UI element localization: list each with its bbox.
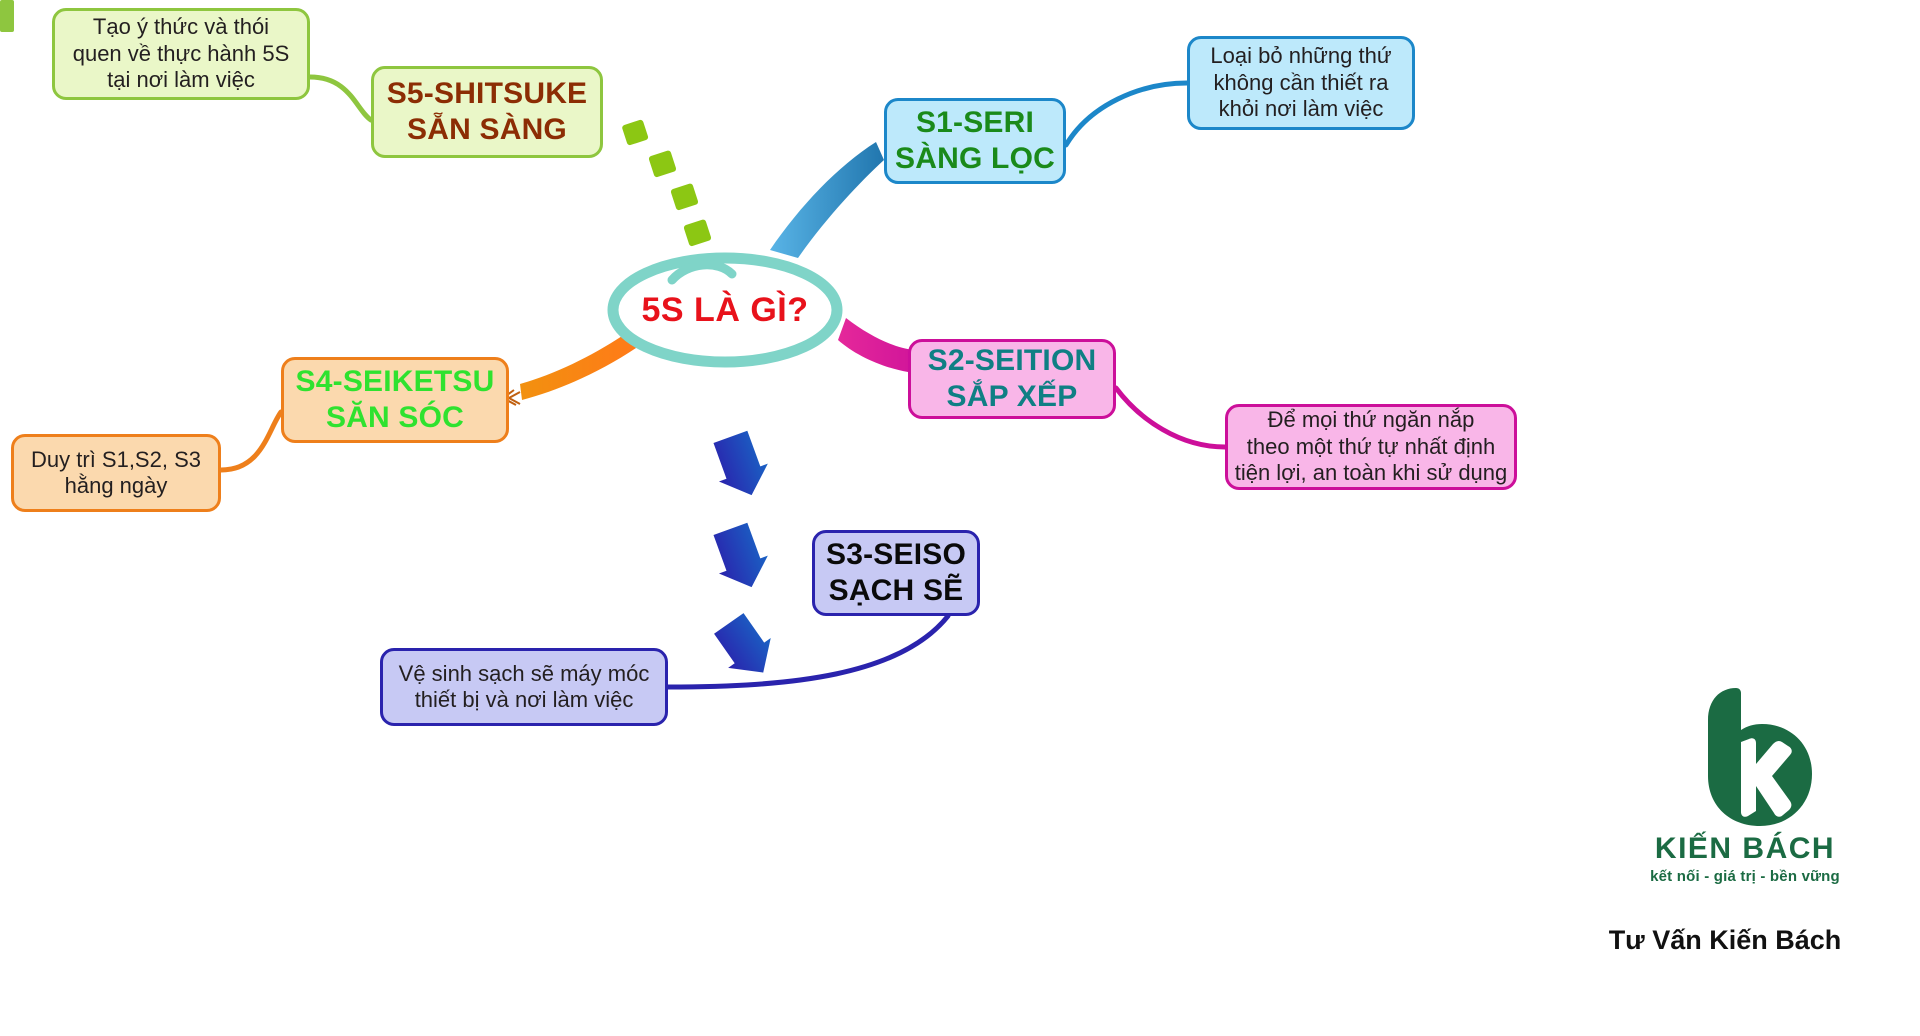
node-s2-seition[interactable]: S2-SEITION SẮP XẾP <box>908 339 1116 419</box>
node-s3-seiso[interactable]: S3-SEISO SẠCH SẼ <box>812 530 980 616</box>
node-s4-line-2: SĂN SÓC <box>290 400 500 436</box>
node-s2-line-1: S2-SEITION <box>917 343 1107 379</box>
connector-s2-leaf <box>1116 388 1225 447</box>
leaf-s2-line-2: theo một thứ tự nhất định <box>1234 434 1508 460</box>
node-s4-line-1: S4-SEIKETSU <box>290 364 500 400</box>
logo-tagline: kết nối - giá trị - bền vững <box>1585 868 1905 885</box>
leaf-s3-description[interactable]: Vệ sinh sạch sẽ máy móc thiết bị và nơi … <box>380 648 668 726</box>
connector-s3-center <box>706 428 785 688</box>
leaf-s2-line-1: Để mọi thứ ngăn nắp <box>1234 407 1508 433</box>
connector-s3-leaf <box>668 616 948 687</box>
node-s1-line-2: SÀNG LỌC <box>893 141 1057 177</box>
leaf-s2-description[interactable]: Để mọi thứ ngăn nắp theo một thứ tự nhất… <box>1225 404 1517 490</box>
footer-caption: Tư Vấn Kiến Bách <box>1545 925 1905 956</box>
connector-s4-arrowhead <box>509 392 520 404</box>
leaf-s5-line-3: tại nơi làm việc <box>61 67 301 93</box>
mindmap-canvas: 5S LÀ GÌ? Tạo ý thức và thói quen về thự… <box>0 0 1920 1036</box>
leaf-s3-line-1: Vệ sinh sạch sẽ máy móc <box>389 661 659 687</box>
connector-s1-center <box>770 142 884 258</box>
kb-monogram-icon <box>1670 680 1820 830</box>
node-s4-seiketsu[interactable]: S4-SEIKETSU SĂN SÓC <box>281 357 509 443</box>
brand-logo: KIẾN BÁCH kết nối - giá trị - bền vững <box>1585 680 1905 880</box>
leaf-s4-line-1: Duy trì S1,S2, S3 <box>20 447 212 473</box>
node-s3-line-2: SẠCH SẼ <box>821 573 971 609</box>
node-s5-connector-stub <box>0 0 14 32</box>
leaf-s3-line-2: thiết bị và nơi làm việc <box>389 687 659 713</box>
leaf-s1-line-3: khỏi nơi làm việc <box>1196 96 1406 122</box>
leaf-s5-line-1: Tạo ý thức và thói <box>61 14 301 40</box>
node-s2-line-2: SẮP XẾP <box>917 379 1107 415</box>
connector-s1-leaf <box>1066 83 1187 145</box>
node-s5-line-2: SẴN SÀNG <box>380 112 594 148</box>
leaf-s1-line-2: không cần thiết ra <box>1196 70 1406 96</box>
leaf-s4-line-2: hằng ngày <box>20 473 212 499</box>
leaf-s2-line-3: tiện lợi, an toàn khi sử dụng <box>1234 460 1508 486</box>
node-s5-shitsuke[interactable]: S5-SHITSUKE SẴN SÀNG <box>371 66 603 158</box>
node-s3-line-1: S3-SEISO <box>821 537 971 573</box>
node-s1-seri[interactable]: S1-SERI SÀNG LỌC <box>884 98 1066 184</box>
node-s5-line-1: S5-SHITSUKE <box>380 76 594 112</box>
leaf-s4-description[interactable]: Duy trì S1,S2, S3 hằng ngày <box>11 434 221 512</box>
connector-s5-center <box>621 119 711 247</box>
leaf-s5-description[interactable]: Tạo ý thức và thói quen về thực hành 5S … <box>52 8 310 100</box>
node-s1-line-1: S1-SERI <box>893 105 1057 141</box>
logo-name: KIẾN BÁCH <box>1585 832 1905 866</box>
center-label: 5S LÀ GÌ? <box>600 250 850 370</box>
connector-s5-leaf <box>310 77 371 120</box>
leaf-s5-line-2: quen về thực hành 5S <box>61 41 301 67</box>
leaf-s1-line-1: Loại bỏ những thứ <box>1196 43 1406 69</box>
leaf-s1-description[interactable]: Loại bỏ những thứ không cần thiết ra khỏ… <box>1187 36 1415 130</box>
connector-s4-leaf <box>221 412 281 470</box>
